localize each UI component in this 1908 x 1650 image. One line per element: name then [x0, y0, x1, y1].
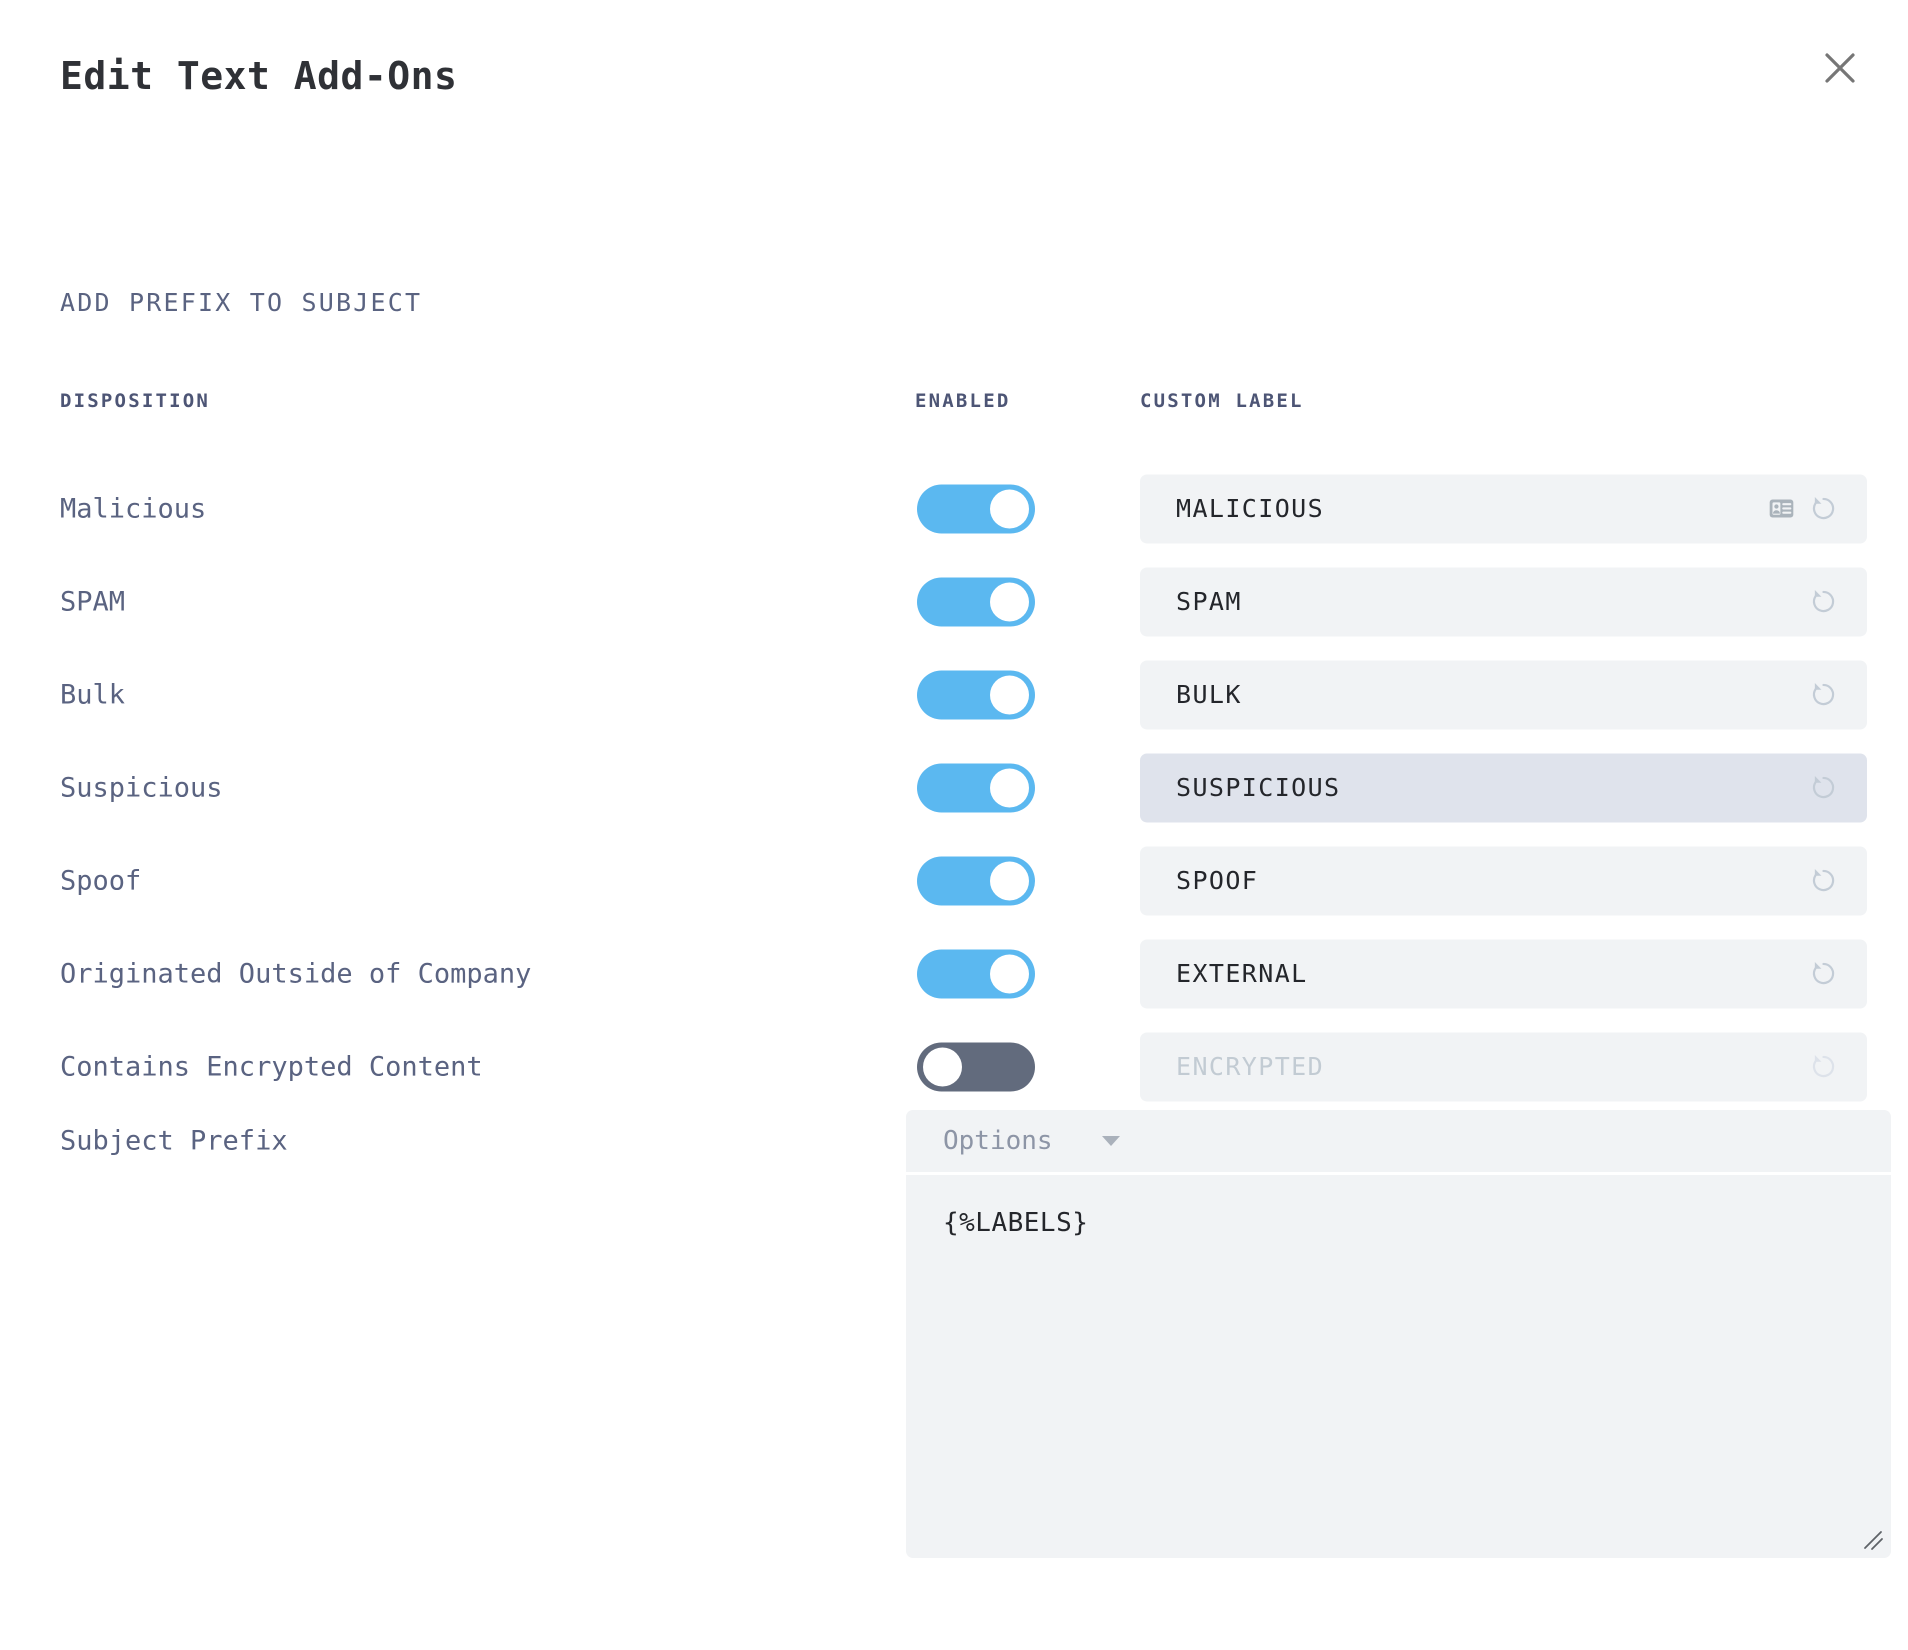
reset-icon[interactable] — [1808, 865, 1839, 896]
row-label-disposition: Malicious — [60, 493, 206, 524]
column-header-disposition: DISPOSITION — [60, 390, 210, 412]
page-title: Edit Text Add-Ons — [60, 54, 457, 98]
close-button[interactable] — [1808, 36, 1872, 100]
toggle-knob — [990, 861, 1029, 900]
custom-label-actions — [1808, 1051, 1839, 1082]
row-label-disposition: Suspicious — [60, 772, 223, 803]
custom-label-actions — [1808, 865, 1839, 896]
row-label-disposition: Spoof — [60, 865, 141, 896]
custom-label-value: MALICIOUS — [1176, 494, 1324, 523]
custom-label-input[interactable]: BULK — [1140, 660, 1867, 729]
table-row: SpoofSPOOF — [0, 834, 1908, 927]
custom-label-actions — [1768, 493, 1839, 524]
options-dropdown-label: Options — [943, 1126, 1053, 1156]
toggle-knob — [990, 768, 1029, 807]
enabled-toggle[interactable] — [917, 856, 1035, 905]
reset-icon[interactable] — [1808, 493, 1839, 524]
row-label-disposition: Originated Outside of Company — [60, 958, 531, 989]
table-row: Contains Encrypted ContentENCRYPTED — [0, 1020, 1908, 1113]
subject-prefix-value: {%LABELS} — [943, 1208, 1088, 1238]
table-row: SuspiciousSUSPICIOUS — [0, 741, 1908, 834]
custom-label-input[interactable]: SPAM — [1140, 567, 1867, 636]
custom-label-value: SPAM — [1176, 587, 1242, 616]
enabled-toggle[interactable] — [917, 484, 1035, 533]
subject-prefix-options-dropdown[interactable]: Options — [906, 1110, 1891, 1172]
table-row: SPAMSPAM — [0, 555, 1908, 648]
column-header-enabled: ENABLED — [915, 390, 1010, 412]
enabled-toggle[interactable] — [917, 1042, 1035, 1091]
toggle-knob — [990, 489, 1029, 528]
enabled-toggle[interactable] — [917, 763, 1035, 812]
resize-grip-icon[interactable] — [1862, 1529, 1884, 1551]
table-row: MaliciousMALICIOUS — [0, 462, 1908, 555]
toggle-knob — [990, 675, 1029, 714]
subject-prefix-textarea[interactable]: {%LABELS} — [906, 1175, 1891, 1558]
section-label-add-prefix-to-subject: ADD PREFIX TO SUBJECT — [60, 288, 422, 317]
custom-label-input[interactable]: ENCRYPTED — [1140, 1032, 1867, 1101]
close-icon — [1823, 51, 1857, 85]
custom-label-value: SUSPICIOUS — [1176, 773, 1341, 802]
custom-label-value: SPOOF — [1176, 866, 1258, 895]
custom-label-actions — [1808, 772, 1839, 803]
reset-icon[interactable] — [1808, 586, 1839, 617]
enabled-toggle[interactable] — [917, 670, 1035, 719]
reset-icon[interactable] — [1808, 772, 1839, 803]
enabled-toggle[interactable] — [917, 949, 1035, 998]
custom-label-input[interactable]: MALICIOUS — [1140, 474, 1867, 543]
disposition-rows: MaliciousMALICIOUSSPAMSPAMBulkBULKSuspic… — [0, 462, 1908, 1113]
toggle-knob — [990, 954, 1029, 993]
table-row: Originated Outside of CompanyEXTERNAL — [0, 927, 1908, 1020]
toggle-knob — [990, 582, 1029, 621]
row-label-disposition: Contains Encrypted Content — [60, 1051, 483, 1082]
id-card-icon[interactable] — [1768, 495, 1795, 522]
table-row: BulkBULK — [0, 648, 1908, 741]
modal-header: Edit Text Add-Ons — [0, 0, 1908, 150]
chevron-down-icon — [1102, 1136, 1120, 1146]
column-header-custom-label: CUSTOM LABEL — [1140, 390, 1304, 412]
toggle-knob — [923, 1047, 962, 1086]
reset-icon[interactable] — [1808, 958, 1839, 989]
custom-label-value: ENCRYPTED — [1176, 1052, 1324, 1081]
custom-label-actions — [1808, 958, 1839, 989]
table-column-headers: DISPOSITION ENABLED CUSTOM LABEL — [0, 390, 1908, 420]
row-label-disposition: SPAM — [60, 586, 125, 617]
custom-label-input[interactable]: SUSPICIOUS — [1140, 753, 1867, 822]
row-label-disposition: Bulk — [60, 679, 125, 710]
custom-label-actions — [1808, 586, 1839, 617]
custom-label-value: EXTERNAL — [1176, 959, 1308, 988]
row-label-subject-prefix: Subject Prefix — [60, 1126, 288, 1157]
reset-icon[interactable] — [1808, 1051, 1839, 1082]
custom-label-input[interactable]: EXTERNAL — [1140, 939, 1867, 1008]
enabled-toggle[interactable] — [917, 577, 1035, 626]
custom-label-value: BULK — [1176, 680, 1242, 709]
custom-label-input[interactable]: SPOOF — [1140, 846, 1867, 915]
reset-icon[interactable] — [1808, 679, 1839, 710]
custom-label-actions — [1808, 679, 1839, 710]
